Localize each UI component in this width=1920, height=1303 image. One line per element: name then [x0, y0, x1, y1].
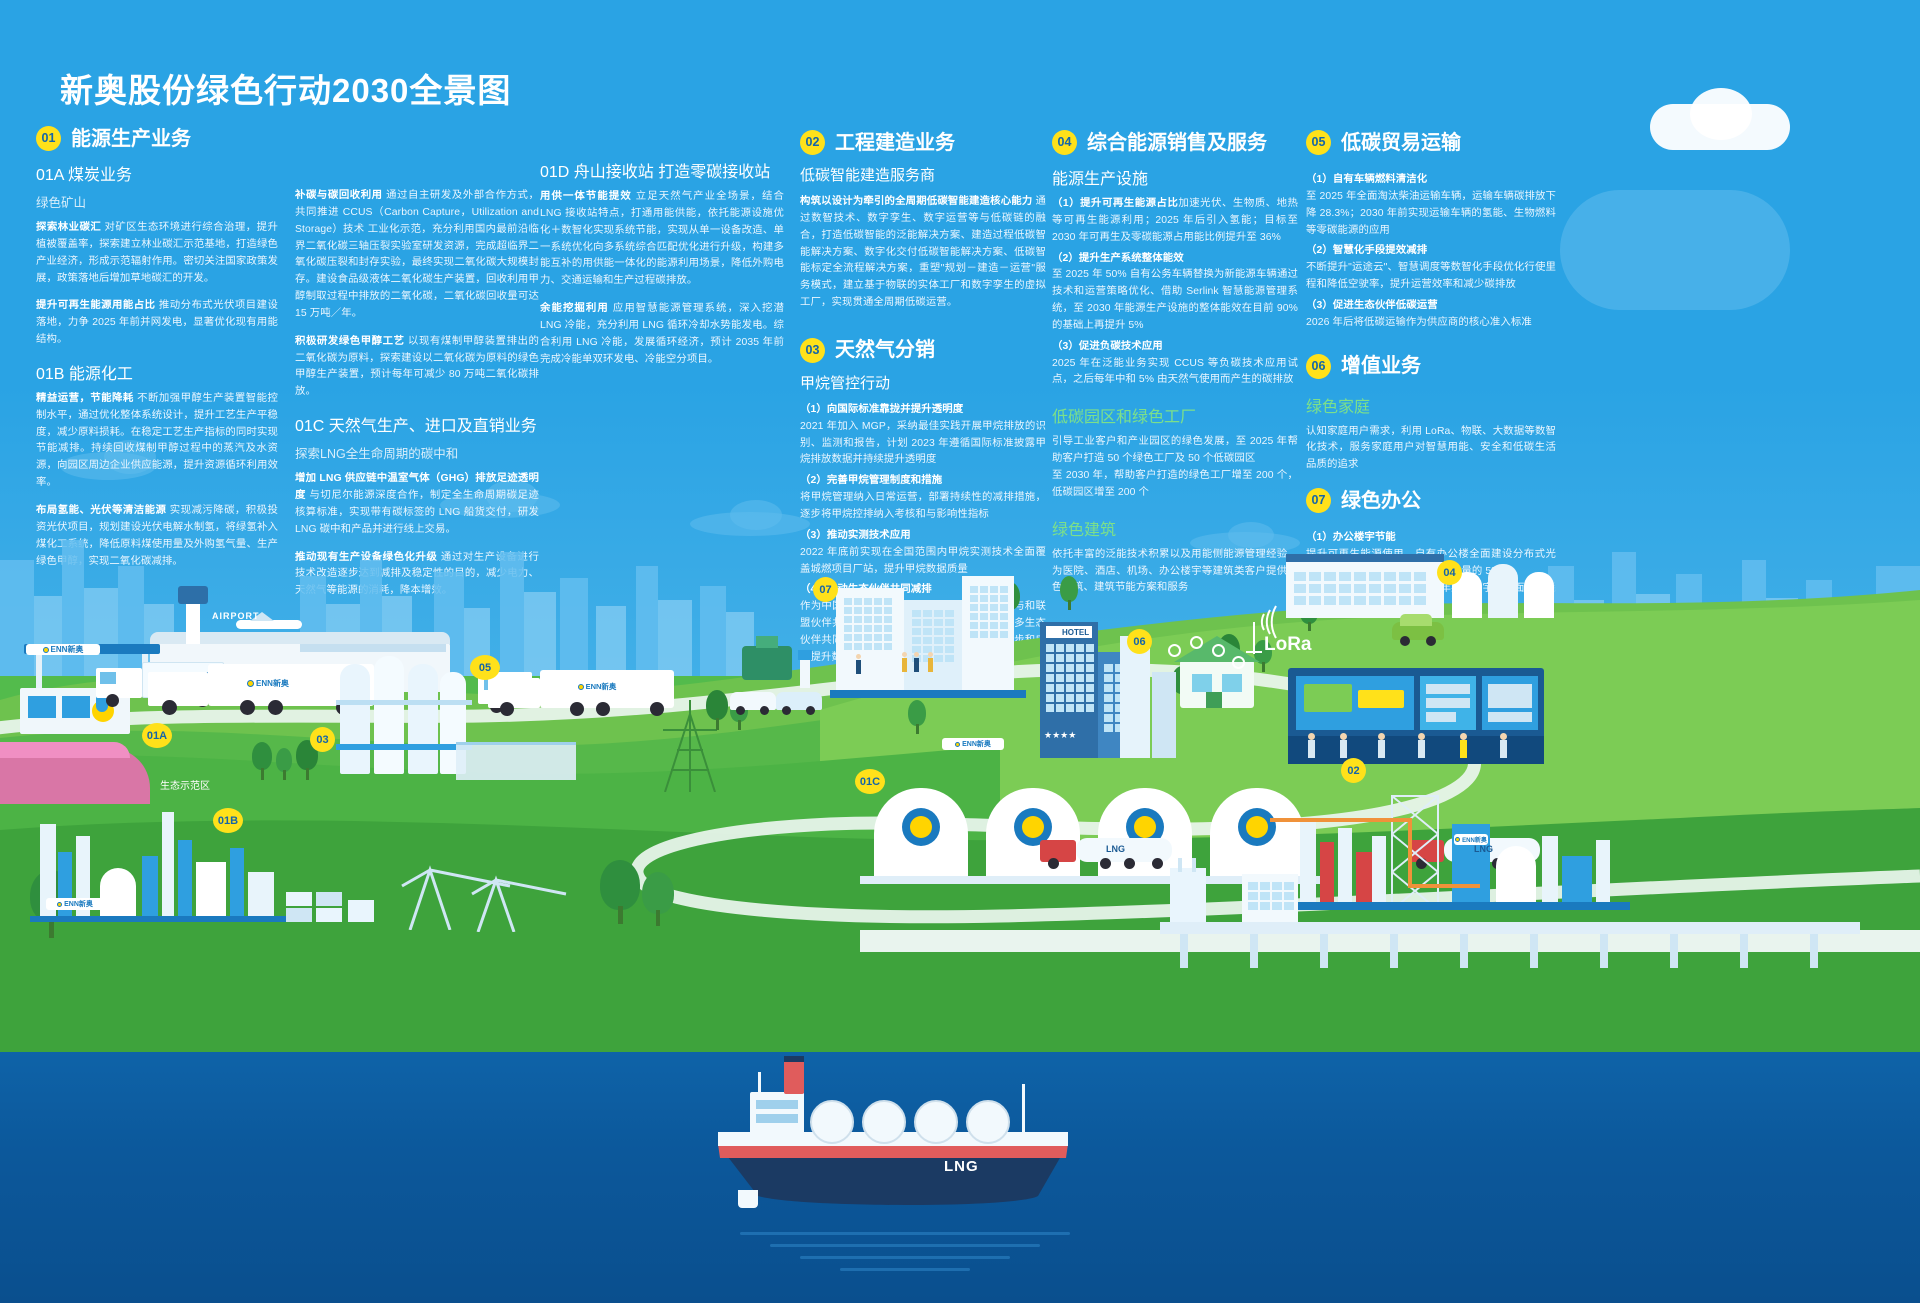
subsection-04-title: 能源生产设施 — [1052, 165, 1298, 189]
list-item: （1）提升可再生能源占比加速光伏、生物质、地热等可再生能源利用；2025 年后引… — [1052, 196, 1298, 247]
paragraph: 构筑以设计为牵引的全周期低碳智能建造核心能力 通过数智技术、数字孪生、数字运营等… — [800, 194, 1046, 312]
paragraph-lead: 精益运营，节能降耗 — [36, 393, 134, 404]
fence-panel — [456, 742, 576, 780]
map-marker-01b[interactable]: 01B — [213, 808, 243, 833]
ship-funnel — [784, 1060, 804, 1094]
item-lead: （3）促进负碳技术应用 — [1052, 341, 1163, 352]
paragraph-text: 通过数智技术、数字孪生、数字运营等与低碳链的融合，打造低碳智能的泛能解决方案、建… — [800, 196, 1046, 308]
fence-top — [456, 742, 576, 745]
plant2-brand-label: ENN新奥 — [1462, 835, 1487, 844]
ship-stern-detail — [738, 1190, 758, 1208]
list-item: （1）自有车辆燃料清洁化至 2025 年全面淘汰柴油运输车辆，运输车辆碳排放下降… — [1306, 172, 1556, 239]
item-lead: （1）自有车辆燃料清洁化 — [1306, 174, 1427, 185]
item-lead: （3）推动实测技术应用 — [800, 530, 911, 541]
plant-brand-label: ENN新奥 — [64, 899, 93, 909]
paragraph-text: 与切尼尔能源深度合作，制定全生命周期碳足迹核算标准，实现带有碳标签的 LNG 船… — [295, 490, 539, 535]
paragraph: 补碳与碳回收利用 通过自主研发及外部合作方式，共同推进 CCUS（Carbon … — [295, 188, 539, 323]
paragraph: 余能挖掘利用 应用智慧能源管理系统，深入挖潜 LNG 冷能，充分利用 LNG 循… — [540, 301, 784, 368]
section-heading-06: 06 增值业务 — [1306, 354, 1556, 379]
wave — [800, 1256, 1010, 1259]
cloud-soft-6 — [730, 500, 782, 530]
column-01: 01 能源生产业务 01A 煤炭业务 绿色矿山 探索林业碳汇 对矿区生态环境进行… — [36, 126, 278, 581]
section-title-07: 绿色办公 — [1341, 490, 1421, 512]
paragraph-text: 立足天然气产业全场景，结合 LNG 接收站特点，打通用能供能，依托能源设施优化＋… — [540, 191, 784, 286]
map-marker-01a[interactable]: 01A — [142, 723, 172, 748]
ship-tank — [862, 1100, 906, 1144]
section-title-06: 增值业务 — [1341, 355, 1421, 377]
subsection-01a-subtitle: 绿色矿山 — [36, 192, 278, 211]
subsection-01c-subtitle: 探索LNG全生命周期的碳中和 — [295, 443, 539, 462]
list-item: （3）促进生态伙伴低碳运营2026 年后将低碳运输作为供应商的核心准入标准 — [1306, 298, 1556, 332]
item-lead: （1）向国际标准靠拢并提升透明度 — [800, 404, 963, 415]
list-item: （2）完善甲烷管理制度和措施将甲烷管理纳入日常运营，部署持续性的减排措施，逐步将… — [800, 473, 1046, 524]
ship-tank — [810, 1100, 854, 1144]
section-title-05: 低碳贸易运输 — [1341, 132, 1461, 154]
list-item: （3）促进负碳技术应用2025 年在泛能业务实现 CCUS 等负碳技术应用试点，… — [1052, 339, 1298, 390]
section-heading-04: 04 综合能源销售及服务 — [1052, 130, 1298, 155]
ship-mast — [758, 1072, 761, 1094]
item-lead: （1）提升可再生能源占比 — [1052, 198, 1178, 209]
section-title-02: 工程建造业务 — [835, 132, 955, 154]
section-title-04: 综合能源销售及服务 — [1087, 132, 1267, 154]
ship-hull — [718, 1144, 1068, 1214]
pipeline-icon — [1270, 800, 1480, 890]
paragraph-text: 通过自主研发及外部合作方式，共同推进 CCUS（Carbon Capture，U… — [295, 190, 539, 319]
item-text: 不断提升"运途云"、智慧调度等数智化手段优化行使里程和降低空驶率，提升运营效率和… — [1306, 262, 1556, 290]
brand-label: ENN新奥 — [51, 644, 84, 655]
item-text: 至 2025 年 50% 自有公务车辆替换为新能源车辆通过技术和运营策略优化、借… — [1052, 269, 1298, 331]
paragraph: 增加 LNG 供应链中温室气体（GHG）排放足迹透明度 与切尼尔能源深度合作，制… — [295, 471, 539, 538]
paragraph-text: 不断加强甲醇生产装置智能控制水平，通过优化整体系统设计，提升工艺生产平稳度，减少… — [36, 393, 278, 488]
map-marker-06[interactable]: 06 — [1127, 629, 1152, 654]
paragraph: 积极研发绿色甲醇工艺 以现有煤制甲醇装置排出的二氧化碳为原料，探索建设以二氧化碳… — [295, 334, 539, 401]
item-text: 2026 年后将低碳运输作为供应商的核心准入标准 — [1306, 317, 1532, 328]
paragraph-lead: 余能挖掘利用 — [540, 303, 609, 314]
paragraph: 提升可再生能源用能占比 推动分布式光伏项目建设落地，力争 2025 年前并网发电… — [36, 298, 278, 349]
section-badge-05: 05 — [1306, 130, 1331, 155]
infographic-page: 新奥股份绿色行动2030全景图 01 能源生产业务 01A 煤炭业务 绿色矿山 … — [0, 0, 1920, 1303]
map-marker-03[interactable]: 03 — [310, 727, 335, 752]
paragraph: 精益运营，节能降耗 不断加强甲醇生产装置智能控制水平，通过优化整体系统设计，提升… — [36, 391, 278, 492]
map-marker-02[interactable]: 02 — [1341, 758, 1366, 783]
section-title-03: 天然气分销 — [835, 339, 935, 361]
subsection-04-green-park-title: 低碳园区和绿色工厂 — [1052, 403, 1298, 427]
bow-mast — [1022, 1084, 1025, 1134]
subsection-01c-title: 01C 天然气生产、进口及直销业务 — [295, 412, 539, 436]
cloud-soft-9 — [1560, 190, 1790, 310]
section-heading-02: 02 工程建造业务 — [800, 130, 1046, 155]
section-badge-06: 06 — [1306, 354, 1331, 379]
item-text: 至 2025 年全面淘汰柴油运输车辆，运输车辆碳排放下降 28.3%；2030 … — [1306, 191, 1556, 236]
section-heading-05: 05 低碳贸易运输 — [1306, 130, 1556, 155]
column-01c: 补碳与碳回收利用 通过自主研发及外部合作方式，共同推进 CCUS（Carbon … — [295, 188, 539, 611]
bridge-window — [756, 1100, 798, 1109]
paragraph-lead: 构筑以设计为牵引的全周期低碳智能建造核心能力 — [800, 196, 1032, 207]
subsection-03-subtitle: 甲烷管控行动 — [800, 372, 1046, 393]
section-badge-02: 02 — [800, 130, 825, 155]
map-marker-07[interactable]: 07 — [813, 577, 838, 602]
crane-icon-2 — [470, 872, 580, 932]
ship-name-label: LNG — [944, 1158, 979, 1175]
section-badge-01: 01 — [36, 126, 61, 151]
paragraph-lead: 用供一体节能提效 — [540, 191, 632, 202]
airport-label: AIRPORT — [212, 611, 260, 621]
paragraph-lead: 积极研发绿色甲醇工艺 — [295, 336, 405, 347]
map-marker-04[interactable]: 04 — [1437, 560, 1462, 585]
cloud-white-2 — [1690, 88, 1752, 140]
green-home-text: 认知家庭用户需求，利用 LoRa、物联、大数据等数智化技术，服务家庭用户对智慧用… — [1306, 424, 1556, 475]
page-title: 新奥股份绿色行动2030全景图 — [60, 64, 511, 112]
section-heading-07: 07 绿色办公 — [1306, 488, 1556, 513]
section-badge-04: 04 — [1052, 130, 1077, 155]
list-item: （2）智慧化手段提效减排不断提升"运途云"、智慧调度等数智化手段优化行使里程和降… — [1306, 243, 1556, 294]
tanker-label-1: LNG — [1106, 844, 1125, 854]
section-heading-03: 03 天然气分销 — [800, 338, 1046, 363]
item-lead: （1）办公楼宇节能 — [1306, 532, 1396, 543]
ship-tank — [914, 1100, 958, 1144]
list-item: （1）向国际标准靠拢并提升透明度2021 年加入 MGP，采纳最佳实践开展甲烷排… — [800, 402, 1046, 469]
truck-brand-label-2: ENN新奥 — [586, 681, 617, 692]
subsection-01d-title: 01D 舟山接收站 打造零碳接收站 — [540, 158, 784, 182]
item-text: 将甲烷管理纳入日常运营，部署持续性的减排措施，逐步将甲烷控排纳入考核和与影响性指… — [800, 492, 1046, 520]
wave — [770, 1244, 1040, 1247]
lora-label: LoRa — [1264, 634, 1312, 656]
hotel-label: HOTEL — [1062, 628, 1089, 637]
section-heading-01: 01 能源生产业务 — [36, 126, 278, 151]
subsection-04-green-building-title: 绿色建筑 — [1052, 516, 1298, 540]
eco-zone-label: 生态示范区 — [160, 777, 210, 792]
subsection-01a-title: 01A 煤炭业务 — [36, 161, 278, 185]
column-04: 04 综合能源销售及服务 能源生产设施 （1）提升可再生能源占比加速光伏、生物质… — [1052, 130, 1298, 608]
section-badge-07: 07 — [1306, 488, 1331, 513]
section-badge-03: 03 — [800, 338, 825, 363]
green-park-text: 引导工业客户和产业园区的绿色发展，至 2025 年帮助客户打造 50 个绿色工厂… — [1052, 434, 1298, 501]
item-text: 2025 年在泛能业务实现 CCUS 等负碳技术应用试点，之后每年中和 5% 由… — [1052, 358, 1298, 386]
campus-brand-label: ENN新奥 — [962, 739, 991, 749]
item-lead: （3）促进生态伙伴低碳运营 — [1306, 300, 1438, 311]
tanker-label-2: LNG — [1474, 844, 1493, 854]
paragraph-lead: 补碳与碳回收利用 — [295, 190, 383, 201]
paragraph: 探索林业碳汇 对矿区生态环境进行综合治理，提升植被覆盖率，探索建立林业碳汇示范基… — [36, 220, 278, 287]
paragraph-lead: 布局氢能、光伏等清洁能源 — [36, 505, 166, 516]
wave — [740, 1232, 1070, 1235]
map-marker-05[interactable]: 05 — [470, 655, 500, 680]
item-text: 2021 年加入 MGP，采纳最佳实践开展甲烷排放的识别、监测和报告，计划 20… — [800, 421, 1046, 466]
column-01d: 01D 舟山接收站 打造零碳接收站 用供一体节能提效 立足天然气产业全场景，结合… — [540, 158, 784, 379]
item-lead: （2）提升生产系统整体能效 — [1052, 253, 1184, 264]
map-marker-01c[interactable]: 01C — [855, 769, 885, 794]
subsection-06-green-home-title: 绿色家庭 — [1306, 393, 1556, 417]
flower-field-top — [0, 742, 130, 758]
item-lead: （2）完善甲烷管理制度和措施 — [800, 475, 942, 486]
subsection-02-subtitle: 低碳智能建造服务商 — [800, 164, 1046, 185]
paragraph-lead: 探索林业碳汇 — [36, 222, 101, 233]
item-lead: （2）智慧化手段提效减排 — [1306, 245, 1427, 256]
funnel-cap — [784, 1056, 804, 1062]
paragraph: 用供一体节能提效 立足天然气产业全场景，结合 LNG 接收站特点，打通用能供能，… — [540, 189, 784, 290]
wave — [840, 1268, 970, 1271]
paragraph-lead: 提升可再生能源用能占比 — [36, 300, 156, 311]
list-item: （2）提升生产系统整体能效至 2025 年 50% 自有公务车辆替换为新能源车辆… — [1052, 251, 1298, 335]
ship-tank — [966, 1100, 1010, 1144]
bridge-window — [756, 1114, 798, 1123]
truck-brand-label: ENN新奥 — [256, 678, 289, 689]
section-title-01: 能源生产业务 — [71, 128, 191, 150]
subsection-01b-title: 01B 能源化工 — [36, 360, 278, 384]
